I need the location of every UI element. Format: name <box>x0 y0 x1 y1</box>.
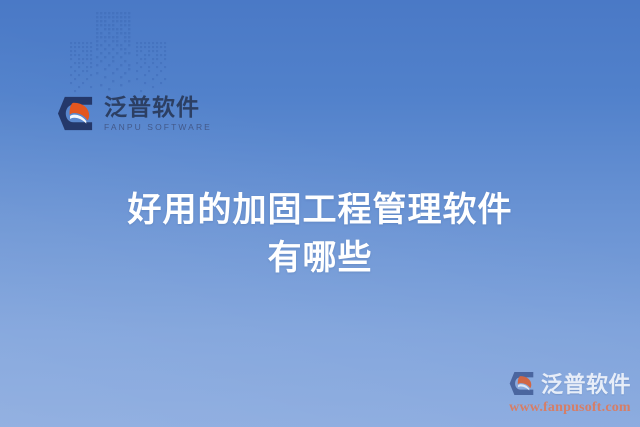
watermark-brand-row: 泛普软件 <box>509 367 631 399</box>
watermark-brand-name: 泛普软件 <box>541 367 631 399</box>
page-title-line-1: 好用的加固工程管理软件 <box>0 186 640 234</box>
page-title-line-2: 有哪些 <box>0 234 640 282</box>
brand-name-cn: 泛普软件 <box>104 96 212 119</box>
brand-lockup: 泛普软件 FANPU SOFTWARE <box>57 94 212 133</box>
fanpu-logo-mark-icon <box>57 94 96 133</box>
brand-wordmark: 泛普软件 FANPU SOFTWARE <box>104 96 212 132</box>
page-title: 好用的加固工程管理软件 有哪些 <box>0 186 640 283</box>
watermark-logo-mark-icon <box>509 370 536 397</box>
watermark-url: www.fanpusoft.com <box>509 400 631 416</box>
promo-banner: 泛普软件 FANPU SOFTWARE 好用的加固工程管理软件 有哪些 泛普软件… <box>0 0 640 427</box>
brand-name-en: FANPU SOFTWARE <box>104 123 212 132</box>
pixel-skyline-decoration <box>68 8 172 94</box>
watermark: 泛普软件 www.fanpusoft.com <box>509 367 631 416</box>
